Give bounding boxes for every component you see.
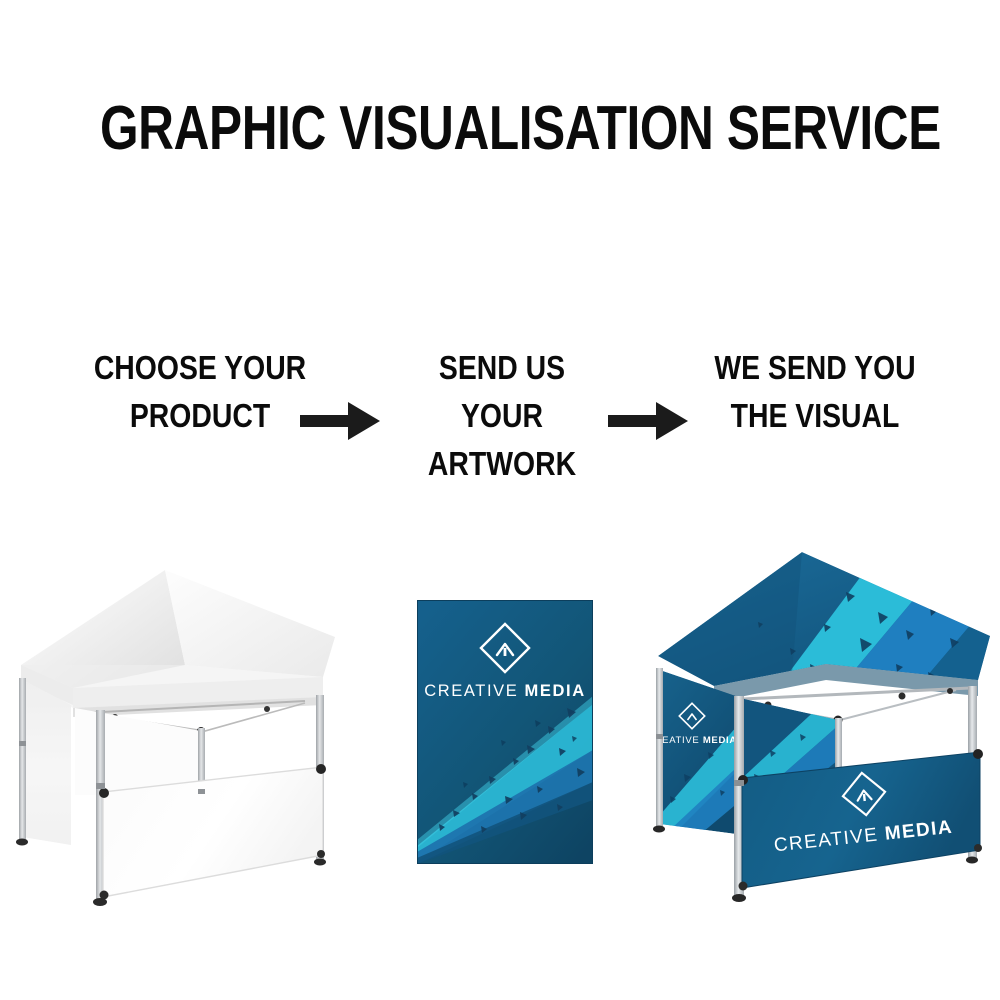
page-title: GRAPHIC VISUALISATION SERVICE [100, 98, 900, 160]
step-label-send-artwork: SEND US YOUR ARTWORK [399, 344, 605, 488]
step-label-receive-visual: WE SEND YOU THE VISUAL [708, 344, 923, 440]
arrow-right-icon [608, 398, 688, 444]
product-visual-gallery: CREATIVE MEDIA [0, 520, 1000, 940]
arrow-right-icon [300, 398, 380, 444]
branded-creative-media-gazebo: CREATIVE MEDIA [650, 538, 995, 928]
step-label-choose-product: CHOOSE YOUR PRODUCT [88, 344, 312, 440]
artwork-brand-text: CREATIVE MEDIA [424, 682, 585, 700]
process-steps: CHOOSE YOUR PRODUCT SEND US YOUR ARTWORK… [0, 344, 1000, 494]
creative-media-artwork-poster: CREATIVE MEDIA [417, 600, 593, 864]
blank-white-gazebo [5, 545, 355, 925]
